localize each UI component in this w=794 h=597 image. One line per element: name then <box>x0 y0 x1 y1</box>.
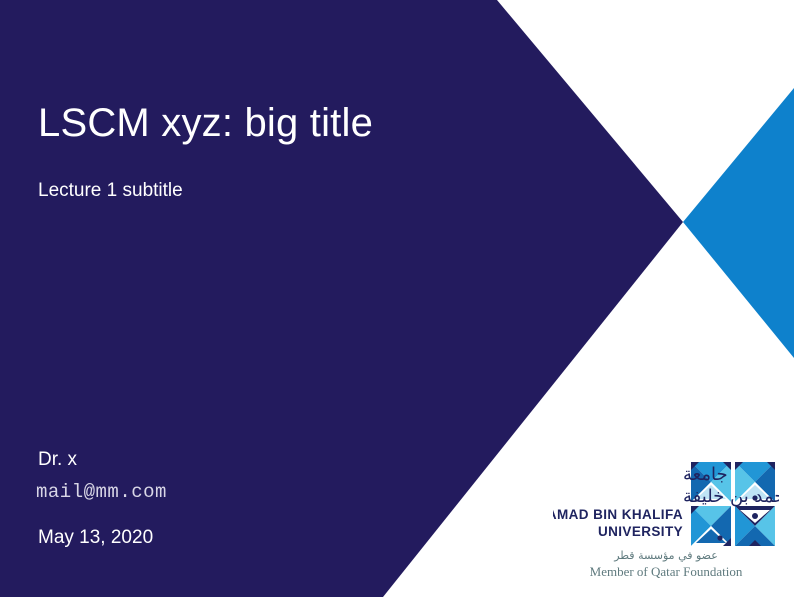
logo-english-footer: Member of Qatar Foundation <box>590 564 743 579</box>
logo-arabic-line1: جامعة <box>683 464 728 485</box>
emblem-tile-bottom-left <box>691 506 731 546</box>
emblem-tile-bottom-right <box>735 506 775 546</box>
hbku-logo: جامعة حمد بن خليفة HAMAD BIN KHALIFA UNI… <box>553 458 779 586</box>
logo-english-line2: UNIVERSITY <box>598 524 683 539</box>
page-title: LSCM xyz: big title <box>38 100 373 146</box>
logo-arabic-footer: عضو في مؤسسة قطر <box>613 549 718 562</box>
title-slide: LSCM xyz: big title Lecture 1 subtitle D… <box>0 0 794 597</box>
hbku-logo-svg: جامعة حمد بن خليفة HAMAD BIN KHALIFA UNI… <box>553 458 779 586</box>
logo-footer: عضو في مؤسسة قطر Member of Qatar Foundat… <box>590 549 743 579</box>
author-email: mail@mm.com <box>36 481 167 503</box>
logo-english-line1: HAMAD BIN KHALIFA <box>553 507 683 522</box>
slide-subtitle: Lecture 1 subtitle <box>38 180 183 202</box>
slide-date: May 13, 2020 <box>38 527 153 549</box>
logo-arabic-line2: حمد بن خليفة <box>683 486 779 507</box>
author-name: Dr. x <box>38 449 77 471</box>
